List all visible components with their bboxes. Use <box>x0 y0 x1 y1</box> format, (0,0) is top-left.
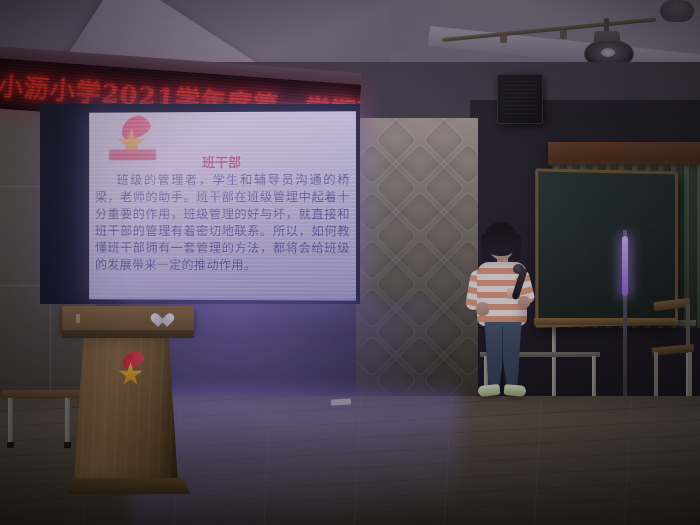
chair-leg <box>654 352 658 396</box>
wall-fan-icon <box>580 18 636 66</box>
pipe-mount <box>500 34 507 43</box>
photo-scene: 小沥小学2021学年度第一学期班干部会议（九月份） 班干部 班级的管理者，学生和… <box>0 0 700 525</box>
hair-top <box>484 222 518 256</box>
sticker-star <box>118 362 143 387</box>
pipe-mount <box>560 30 567 39</box>
heart-sticker-icon <box>154 314 171 329</box>
presenter <box>460 222 542 402</box>
flame-shape <box>118 113 153 142</box>
lectern-slot <box>76 314 80 323</box>
speaker-grill <box>503 81 537 117</box>
chair-back <box>654 298 691 311</box>
paper-on-floor <box>331 398 351 405</box>
lectern-top-edge <box>62 330 194 338</box>
jeans <box>482 322 524 390</box>
right-hand <box>518 296 530 308</box>
jeans-seam <box>502 326 503 388</box>
chair-leg <box>688 352 692 396</box>
fan-hub <box>601 48 615 57</box>
wall-speaker <box>497 74 543 124</box>
wooden-chair <box>650 300 694 395</box>
curtain-valance <box>548 142 700 164</box>
lectern-base <box>66 478 190 494</box>
stool-leg <box>8 398 13 444</box>
slide-body-text: 班级的管理者，学生和辅导员沟通的桥梁，老师的助手。班干部在班级管理中起着十分重要… <box>95 172 350 275</box>
left-sneaker <box>477 384 500 397</box>
microphone-head <box>513 264 524 274</box>
ceiling-fixture-icon <box>660 0 694 22</box>
led-light-strip <box>622 236 628 296</box>
right-sneaker <box>504 384 527 397</box>
flame-star-sticker-icon <box>114 354 148 388</box>
stool-foot <box>7 442 14 448</box>
lectern <box>62 306 202 506</box>
slide-title: 班干部 <box>89 152 356 172</box>
table-leg <box>552 325 556 401</box>
projection-screen: 班干部 班级的管理者，学生和辅导员沟通的桥梁，老师的助手。班干部在班级管理中起着… <box>89 111 356 300</box>
